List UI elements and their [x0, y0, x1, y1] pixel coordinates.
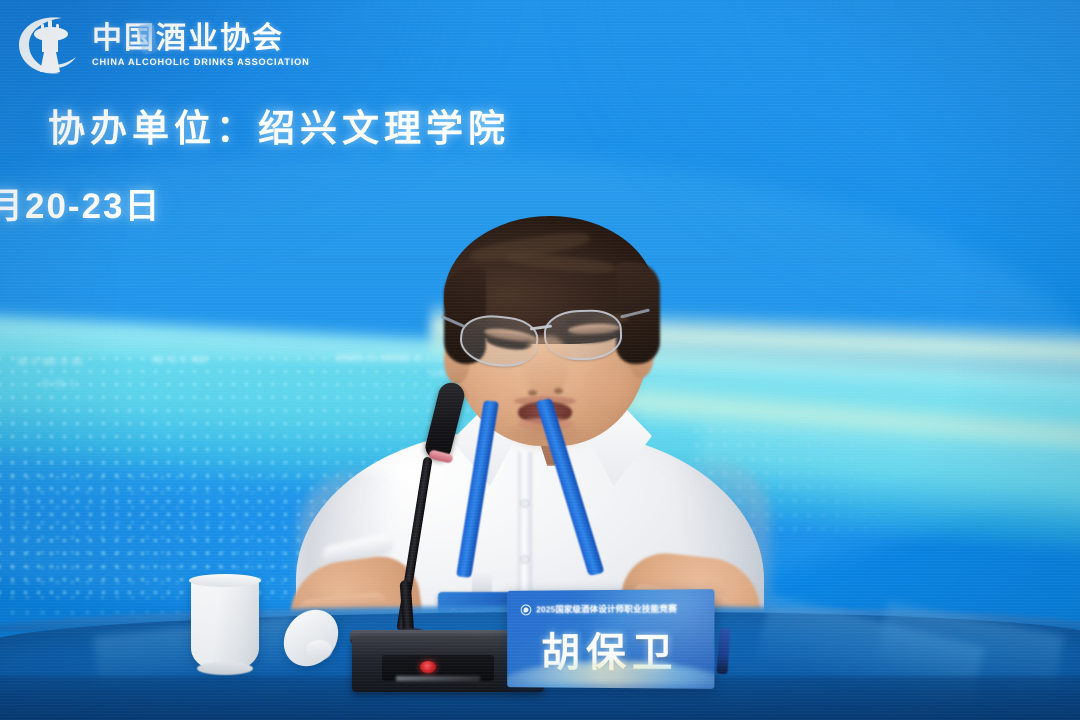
glasses-lens-reflection [138, 23, 159, 55]
nostril-left [528, 390, 537, 396]
shirt-button [521, 556, 528, 563]
tea-cup-lid-knob [306, 640, 332, 660]
speaker-nameplate: 2025国家级酒体设计师职业技能竞赛 胡保卫 [507, 589, 714, 689]
nameplate-header: 2025国家级酒体设计师职业技能竞赛 [521, 602, 704, 615]
droplet-badge-icon [521, 604, 532, 615]
shirt-button [521, 500, 528, 507]
conference-photo: 中国酒业协会 CHINA ALCOHOLIC DRINKS ASSOCIATIO… [0, 0, 1080, 720]
tea-cup-rim [189, 574, 261, 587]
microphone-power-led [420, 661, 436, 673]
tea-cup-foot [197, 662, 253, 675]
nameplate-event-title: 2025国家级酒体设计师职业技能竞赛 [536, 603, 677, 616]
glasses-temple-right [620, 308, 650, 318]
nostril-right [554, 388, 563, 394]
nameplate-face: 2025国家级酒体设计师职业技能竞赛 胡保卫 [507, 589, 714, 689]
microphone-brand-label [396, 676, 480, 681]
tea-cup [191, 578, 259, 670]
